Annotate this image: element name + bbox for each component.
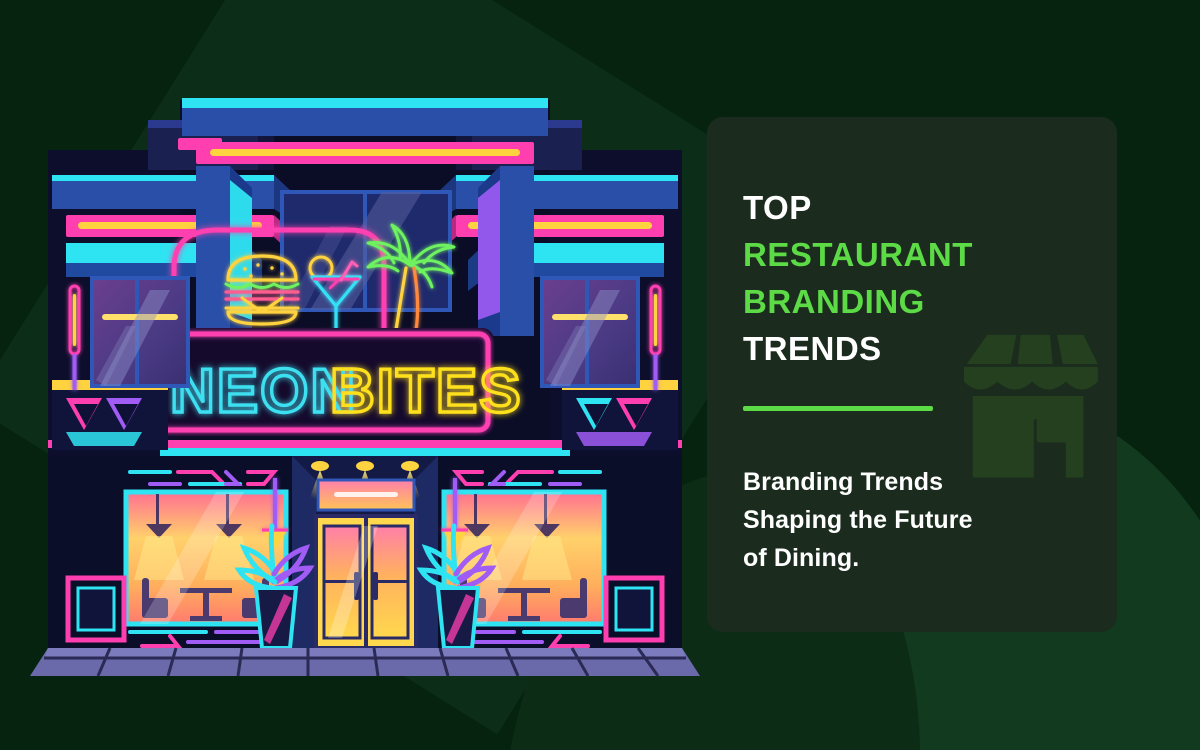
subtitle-line-3: of Dining. — [743, 539, 1117, 577]
door-double — [316, 516, 416, 648]
subtitle-line-2: Shaping the Future — [743, 501, 1117, 539]
poster-canvas: NEON BITES — [0, 0, 1200, 750]
title-divider — [743, 406, 933, 411]
info-card: TOP RESTAURANT BRANDING TRENDS Branding … — [707, 117, 1117, 632]
headline-line-1: TOP — [743, 185, 1117, 232]
sign-text-bites: BITES — [330, 357, 523, 426]
sign-text: NEON BITES — [170, 357, 523, 426]
page-title: TOP RESTAURANT BRANDING TRENDS — [743, 185, 1117, 372]
window-upper-left — [92, 278, 188, 386]
awning-left-panel — [52, 380, 168, 450]
neon-restaurant-illustration: NEON BITES — [30, 80, 700, 680]
headline-line-3: BRANDING — [743, 279, 1117, 326]
awning-right-panel — [562, 380, 678, 450]
subtitle-line-1: Branding Trends — [743, 463, 1117, 501]
sidewalk — [30, 648, 700, 676]
subtitle: Branding Trends Shaping the Future of Di… — [743, 463, 1117, 577]
window-upper-right — [542, 278, 638, 386]
awning-right — [438, 175, 678, 291]
door-handle-right — [373, 572, 378, 600]
headline-line-4: TRENDS — [743, 326, 1117, 373]
headline-line-2: RESTAURANT — [743, 232, 1117, 279]
door-transom — [318, 480, 414, 510]
